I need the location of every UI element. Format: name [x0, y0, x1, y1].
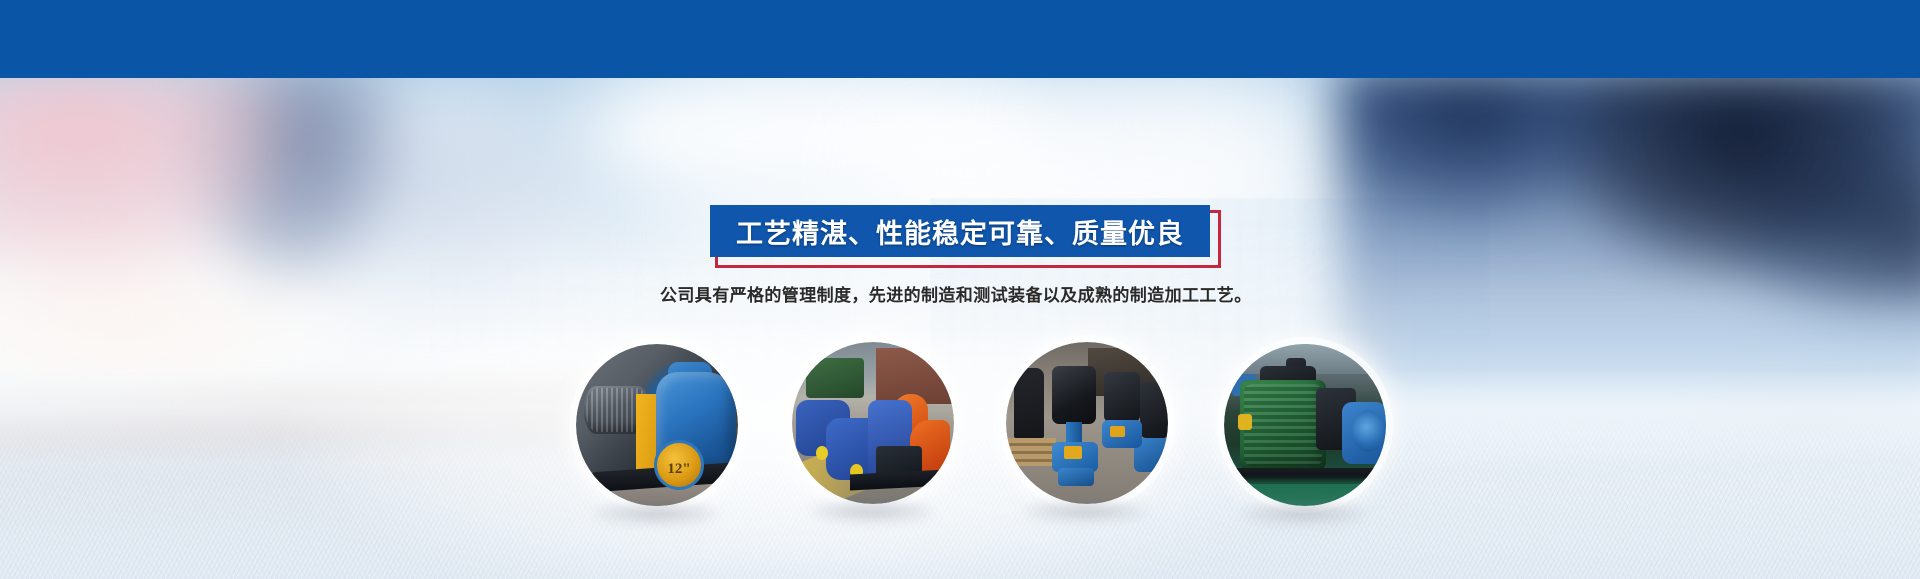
photo-3-pump-foot: [1058, 468, 1094, 486]
photo-2-image: [792, 342, 954, 504]
photo-3-nameplate: [1064, 446, 1082, 459]
photo-3-nameplate: [1110, 426, 1125, 437]
photo-3-motor: [1104, 372, 1140, 422]
photo-4-engine-texture: [1244, 384, 1322, 466]
photo-1-flange-cover: 12": [654, 440, 704, 490]
photo-3-worker: [1014, 368, 1044, 438]
subtitle-text: 公司具有严格的管理制度，先进的制造和测试装备以及成熟的制造加工工艺。: [660, 281, 1252, 306]
background-photo: [0, 78, 1920, 579]
headline-block: 工艺精湛、性能稳定可靠、质量优良: [710, 205, 1210, 257]
photo-4-yellow-fitting: [1238, 414, 1252, 430]
photo-3-motor: [1140, 382, 1168, 438]
hero-banner: 工艺精湛、性能稳定可靠、质量优良 公司具有严格的管理制度，先进的制造和测试装备以…: [0, 0, 1920, 579]
headline-text: 工艺精湛、性能稳定可靠、质量优良: [736, 212, 1184, 251]
product-photo-1[interactable]: 12": [576, 344, 738, 506]
photo-4-floor-reflection: [1224, 480, 1386, 506]
photo-3-pallet: [1008, 438, 1056, 466]
photo-2-green-machine: [806, 358, 864, 398]
photo-1-size-label: 12": [657, 461, 701, 478]
headline-plate: 工艺精湛、性能稳定可靠、质量优良: [710, 205, 1210, 257]
photo-4-image: [1224, 344, 1386, 506]
top-navigation-bar[interactable]: [0, 0, 1920, 78]
photo-4-impeller-housing: [1352, 410, 1384, 452]
photo-2-flange-cap: [816, 446, 828, 460]
photo-3-image: [1006, 342, 1168, 504]
photo-1-image: 12": [576, 344, 738, 506]
product-photo-2[interactable]: [792, 342, 954, 504]
photo-3-motor: [1052, 366, 1096, 424]
product-photo-4[interactable]: [1224, 344, 1386, 506]
product-photo-3[interactable]: [1006, 342, 1168, 504]
